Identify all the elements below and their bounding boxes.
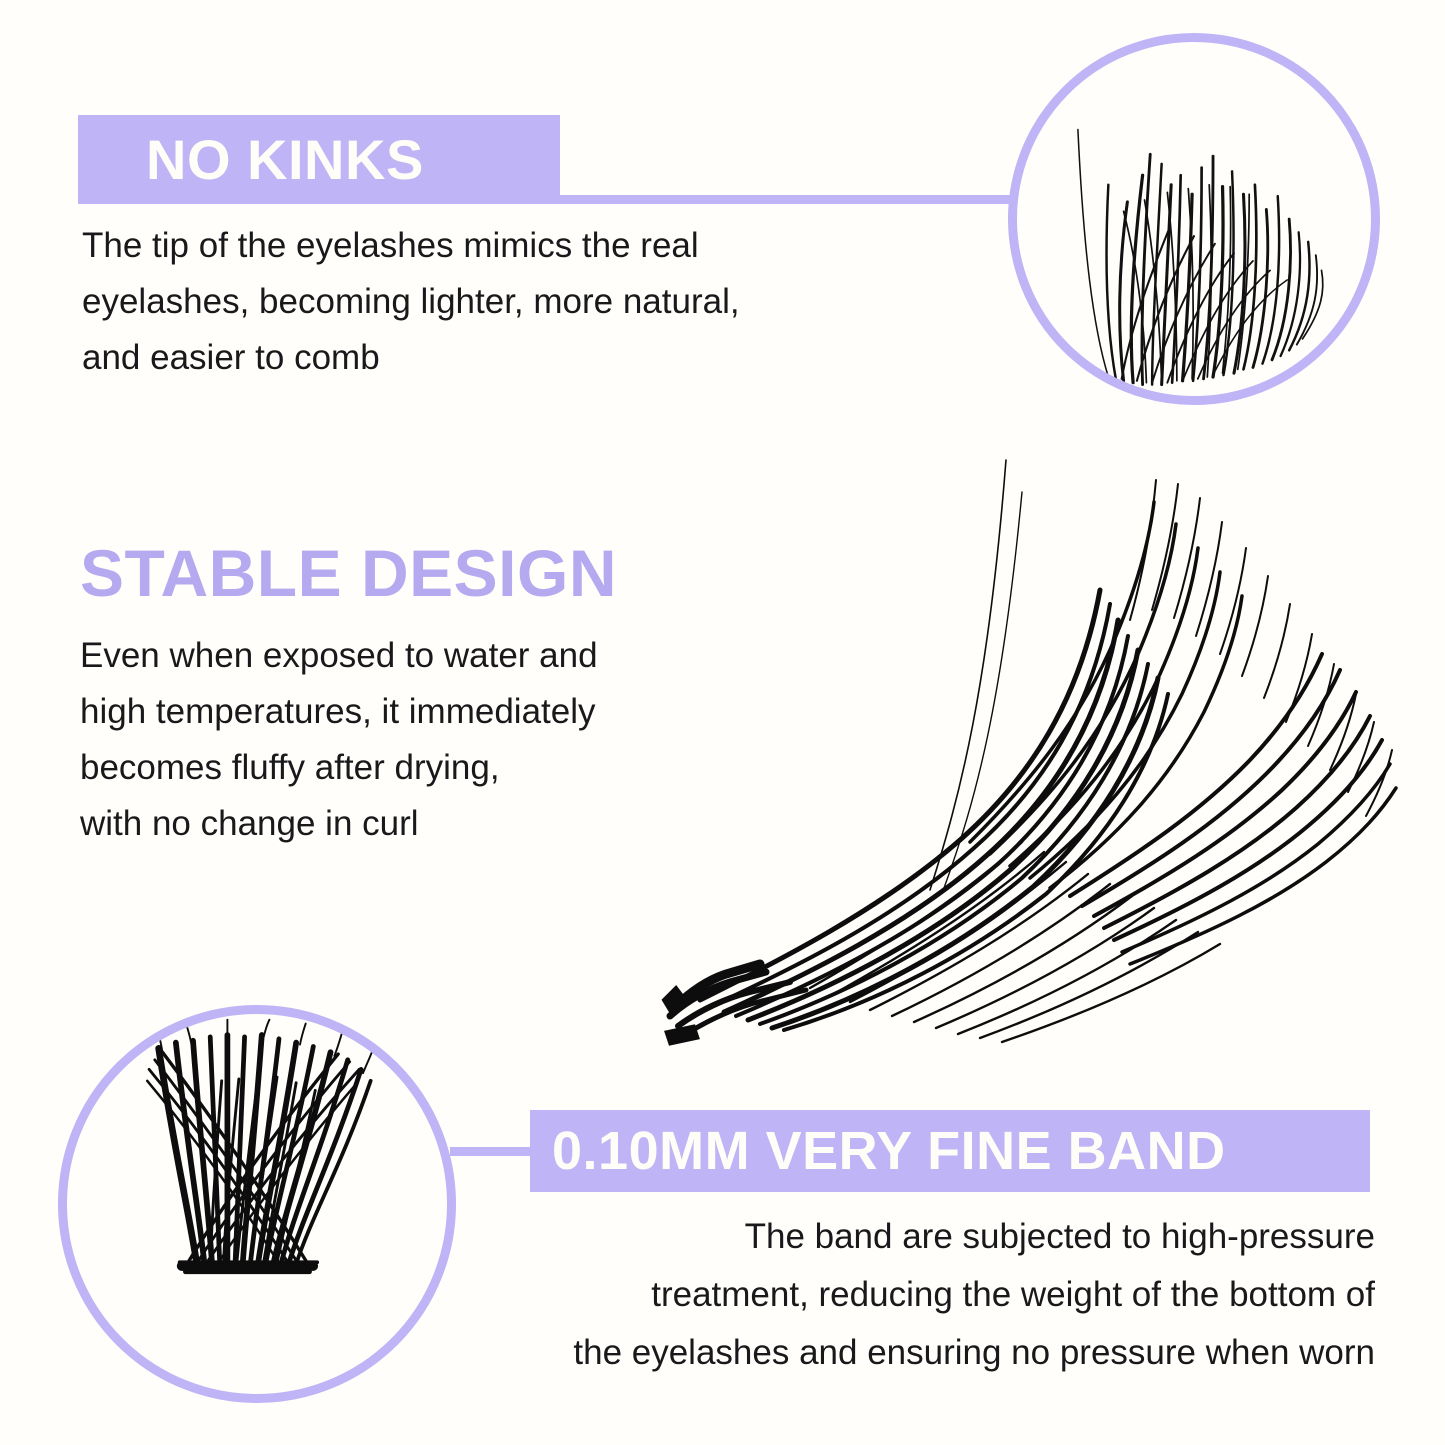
eyelash-band-base-closeup-icon <box>67 1014 447 1394</box>
body-text-fine-band: The band are subjected to high-pressure … <box>420 1208 1375 1382</box>
infographic-canvas: NO KINKS The tip of the eyelashes mimics… <box>0 0 1445 1445</box>
zoom-circle-eyelash-band-base <box>58 1005 456 1403</box>
connector-line-bottom <box>450 1147 536 1156</box>
body-text-no-kinks: The tip of the eyelashes mimics the real… <box>82 218 912 386</box>
heading-stable-design: STABLE DESIGN <box>80 535 617 611</box>
heading-fine-band: 0.10MM VERY FINE BAND <box>530 1110 1370 1192</box>
zoom-circle-eyelash-tips <box>1008 33 1380 405</box>
heading-no-kinks: NO KINKS <box>78 115 560 203</box>
eyelash-tips-closeup-icon <box>1017 42 1371 396</box>
main-eyelash-strip-image <box>630 440 1420 1060</box>
false-eyelash-strip-icon <box>630 440 1420 1060</box>
